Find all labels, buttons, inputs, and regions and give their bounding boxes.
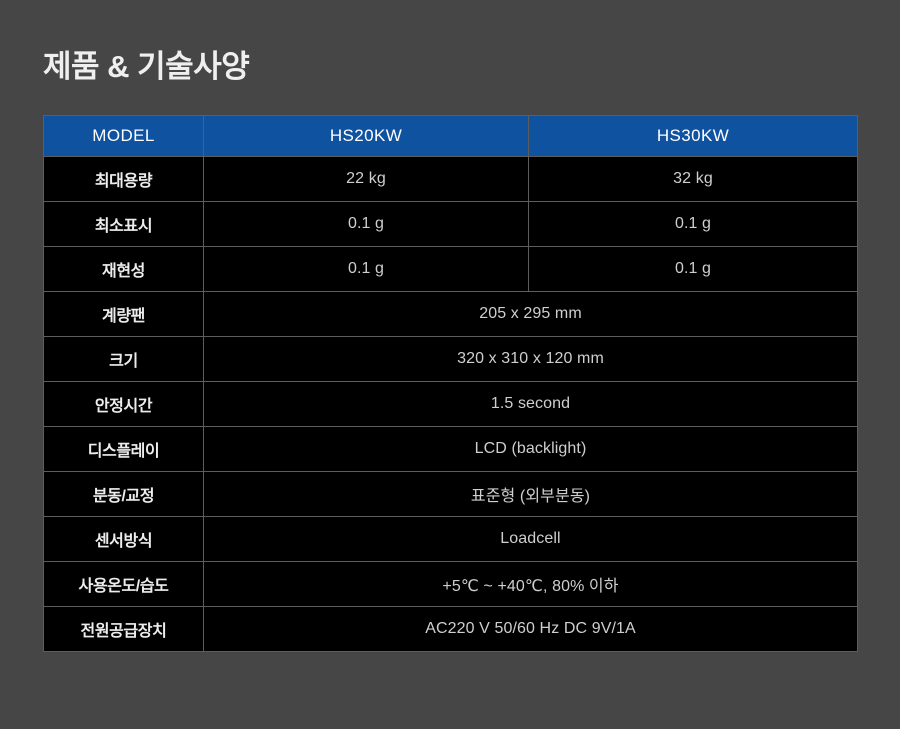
table-header-row: MODEL HS20KW HS30KW — [44, 116, 858, 157]
column-header-hs20kw: HS20KW — [204, 116, 529, 157]
row-value-hs30kw: 0.1 g — [529, 202, 858, 247]
table-row: 분동/교정표준형 (외부분동) — [44, 472, 858, 517]
row-value-hs30kw: 32 kg — [529, 157, 858, 202]
specification-table: MODEL HS20KW HS30KW 최대용량22 kg32 kg최소표시0.… — [43, 115, 858, 652]
row-label: 재현성 — [44, 247, 204, 292]
row-value-hs20kw: 0.1 g — [204, 247, 529, 292]
row-value-hs20kw: 0.1 g — [204, 202, 529, 247]
row-value-hs20kw: 22 kg — [204, 157, 529, 202]
table-row: 계량팬205 x 295 mm — [44, 292, 858, 337]
row-label: 계량팬 — [44, 292, 204, 337]
table-row: 크기320 x 310 x 120 mm — [44, 337, 858, 382]
row-label: 최소표시 — [44, 202, 204, 247]
table-row: 최대용량22 kg32 kg — [44, 157, 858, 202]
table-header: MODEL HS20KW HS30KW — [44, 116, 858, 157]
table-row: 센서방식Loadcell — [44, 517, 858, 562]
spec-table-container: MODEL HS20KW HS30KW 최대용량22 kg32 kg최소표시0.… — [43, 115, 857, 652]
row-label: 전원공급장치 — [44, 607, 204, 652]
table-row: 재현성0.1 g0.1 g — [44, 247, 858, 292]
row-label: 센서방식 — [44, 517, 204, 562]
row-label: 분동/교정 — [44, 472, 204, 517]
row-label: 최대용량 — [44, 157, 204, 202]
column-header-model: MODEL — [44, 116, 204, 157]
row-value-merged: Loadcell — [204, 517, 858, 562]
table-body: 최대용량22 kg32 kg최소표시0.1 g0.1 g재현성0.1 g0.1 … — [44, 157, 858, 652]
row-value-merged: AC220 V 50/60 Hz DC 9V/1A — [204, 607, 858, 652]
row-label: 사용온도/습도 — [44, 562, 204, 607]
table-row: 최소표시0.1 g0.1 g — [44, 202, 858, 247]
row-value-merged: 1.5 second — [204, 382, 858, 427]
table-row: 디스플레이LCD (backlight) — [44, 427, 858, 472]
row-value-merged: LCD (backlight) — [204, 427, 858, 472]
row-value-merged: 표준형 (외부분동) — [204, 472, 858, 517]
row-value-merged: 205 x 295 mm — [204, 292, 858, 337]
row-label: 디스플레이 — [44, 427, 204, 472]
row-label: 크기 — [44, 337, 204, 382]
table-row: 사용온도/습도+5℃ ~ +40℃, 80% 이하 — [44, 562, 858, 607]
row-label: 안정시간 — [44, 382, 204, 427]
page-title: 제품 & 기술사양 — [43, 48, 249, 85]
row-value-merged: +5℃ ~ +40℃, 80% 이하 — [204, 562, 858, 607]
spec-page: 제품 & 기술사양 MODEL HS20KW HS30KW 최대용량22 kg3… — [0, 0, 900, 729]
column-header-hs30kw: HS30KW — [529, 116, 858, 157]
table-row: 전원공급장치AC220 V 50/60 Hz DC 9V/1A — [44, 607, 858, 652]
row-value-merged: 320 x 310 x 120 mm — [204, 337, 858, 382]
table-row: 안정시간1.5 second — [44, 382, 858, 427]
row-value-hs30kw: 0.1 g — [529, 247, 858, 292]
